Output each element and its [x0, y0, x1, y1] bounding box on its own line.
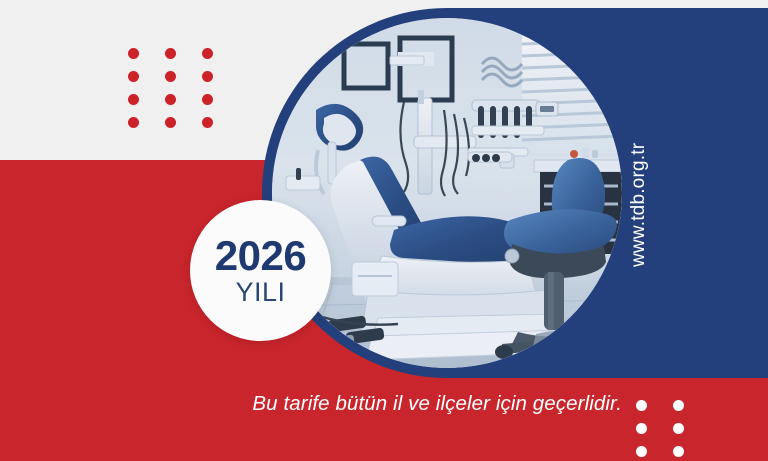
dental-office-photo — [272, 18, 622, 368]
dot — [165, 71, 176, 82]
dot — [165, 48, 176, 59]
dot — [165, 117, 176, 128]
badge-year-text: 2026 — [215, 235, 306, 277]
badge-year-label: YILI — [235, 279, 285, 306]
dot — [202, 48, 213, 59]
tagline-text: Bu tarife bütün il ve ilçeler için geçer… — [0, 392, 622, 416]
dot — [673, 400, 684, 411]
dot — [673, 446, 684, 457]
dot — [202, 71, 213, 82]
dot — [128, 94, 139, 105]
poster-canvas: 2026 YILI www.tdb.org.tr Bu tarife bütün… — [0, 0, 768, 461]
dot — [202, 117, 213, 128]
dot — [636, 400, 647, 411]
dot — [128, 117, 139, 128]
year-badge: 2026 YILI — [190, 200, 331, 341]
dot-grid-top-left — [128, 48, 213, 128]
dot — [128, 71, 139, 82]
dot — [636, 423, 647, 434]
dental-office-illustration — [272, 18, 622, 368]
dot — [636, 446, 647, 457]
dot — [165, 94, 176, 105]
dot-grid-bottom-right — [636, 400, 684, 457]
website-url[interactable]: www.tdb.org.tr — [628, 120, 652, 290]
dot — [202, 94, 213, 105]
dot — [128, 48, 139, 59]
photo-clip — [272, 18, 622, 368]
dot — [673, 423, 684, 434]
